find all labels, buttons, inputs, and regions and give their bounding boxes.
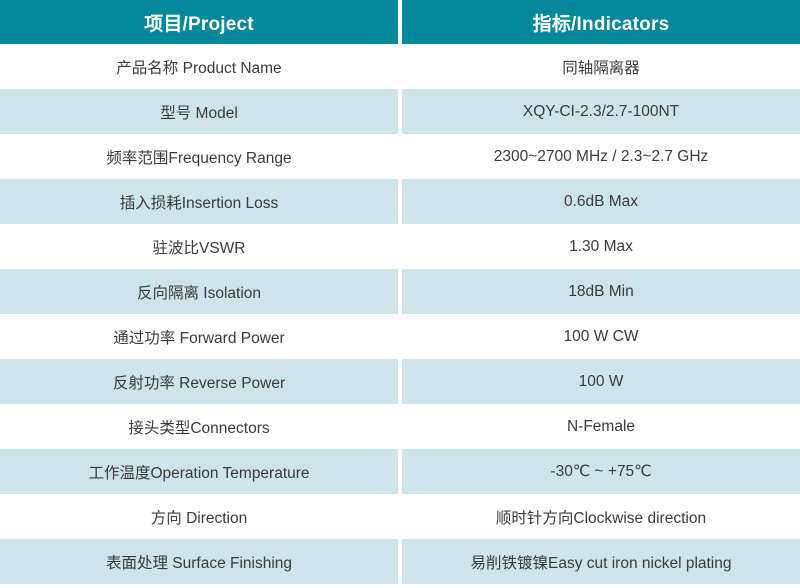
cell-indicator: 2300~2700 MHz / 2.3~2.7 GHz (402, 134, 800, 179)
table-row: 方向 Direction顺时针方向Clockwise direction (0, 494, 800, 539)
table-header: 项目/Project 指标/Indicators (0, 0, 800, 44)
table-row: 型号 ModelXQY-CI-2.3/2.7-100NT (0, 89, 800, 134)
table-row: 驻波比VSWR1.30 Max (0, 224, 800, 269)
cell-indicator: 易削铁镀镍Easy cut iron nickel plating (402, 539, 800, 584)
cell-project: 型号 Model (0, 89, 402, 134)
table-row: 工作温度Operation Temperature-30℃ ~ +75℃ (0, 449, 800, 494)
cell-project: 工作温度Operation Temperature (0, 449, 402, 494)
cell-indicator: N-Female (402, 404, 800, 449)
cell-indicator: 100 W CW (402, 314, 800, 359)
cell-indicator: 同轴隔离器 (402, 44, 800, 89)
table-row: 通过功率 Forward Power100 W CW (0, 314, 800, 359)
column-header-indicators: 指标/Indicators (402, 0, 800, 44)
cell-indicator: 1.30 Max (402, 224, 800, 269)
table-body: 产品名称 Product Name同轴隔离器型号 ModelXQY-CI-2.3… (0, 44, 800, 584)
cell-indicator: 0.6dB Max (402, 179, 800, 224)
cell-project: 接头类型Connectors (0, 404, 402, 449)
cell-project: 驻波比VSWR (0, 224, 402, 269)
cell-project: 频率范围Frequency Range (0, 134, 402, 179)
table-header-row: 项目/Project 指标/Indicators (0, 0, 800, 44)
cell-indicator: 18dB Min (402, 269, 800, 314)
table-row: 频率范围Frequency Range2300~2700 MHz / 2.3~2… (0, 134, 800, 179)
cell-project: 插入损耗Insertion Loss (0, 179, 402, 224)
cell-indicator: 100 W (402, 359, 800, 404)
cell-project: 通过功率 Forward Power (0, 314, 402, 359)
cell-project: 方向 Direction (0, 494, 402, 539)
table-row: 接头类型ConnectorsN-Female (0, 404, 800, 449)
cell-indicator: XQY-CI-2.3/2.7-100NT (402, 89, 800, 134)
specification-table: 项目/Project 指标/Indicators 产品名称 Product Na… (0, 0, 800, 584)
cell-project: 反射功率 Reverse Power (0, 359, 402, 404)
cell-project: 表面处理 Surface Finishing (0, 539, 402, 584)
cell-indicator: 顺时针方向Clockwise direction (402, 494, 800, 539)
table-row: 插入损耗Insertion Loss0.6dB Max (0, 179, 800, 224)
table-row: 表面处理 Surface Finishing易削铁镀镍Easy cut iron… (0, 539, 800, 584)
cell-indicator: -30℃ ~ +75℃ (402, 449, 800, 494)
table-row: 产品名称 Product Name同轴隔离器 (0, 44, 800, 89)
cell-project: 反向隔离 Isolation (0, 269, 402, 314)
column-header-project: 项目/Project (0, 0, 402, 44)
table-row: 反射功率 Reverse Power100 W (0, 359, 800, 404)
table-row: 反向隔离 Isolation18dB Min (0, 269, 800, 314)
cell-project: 产品名称 Product Name (0, 44, 402, 89)
